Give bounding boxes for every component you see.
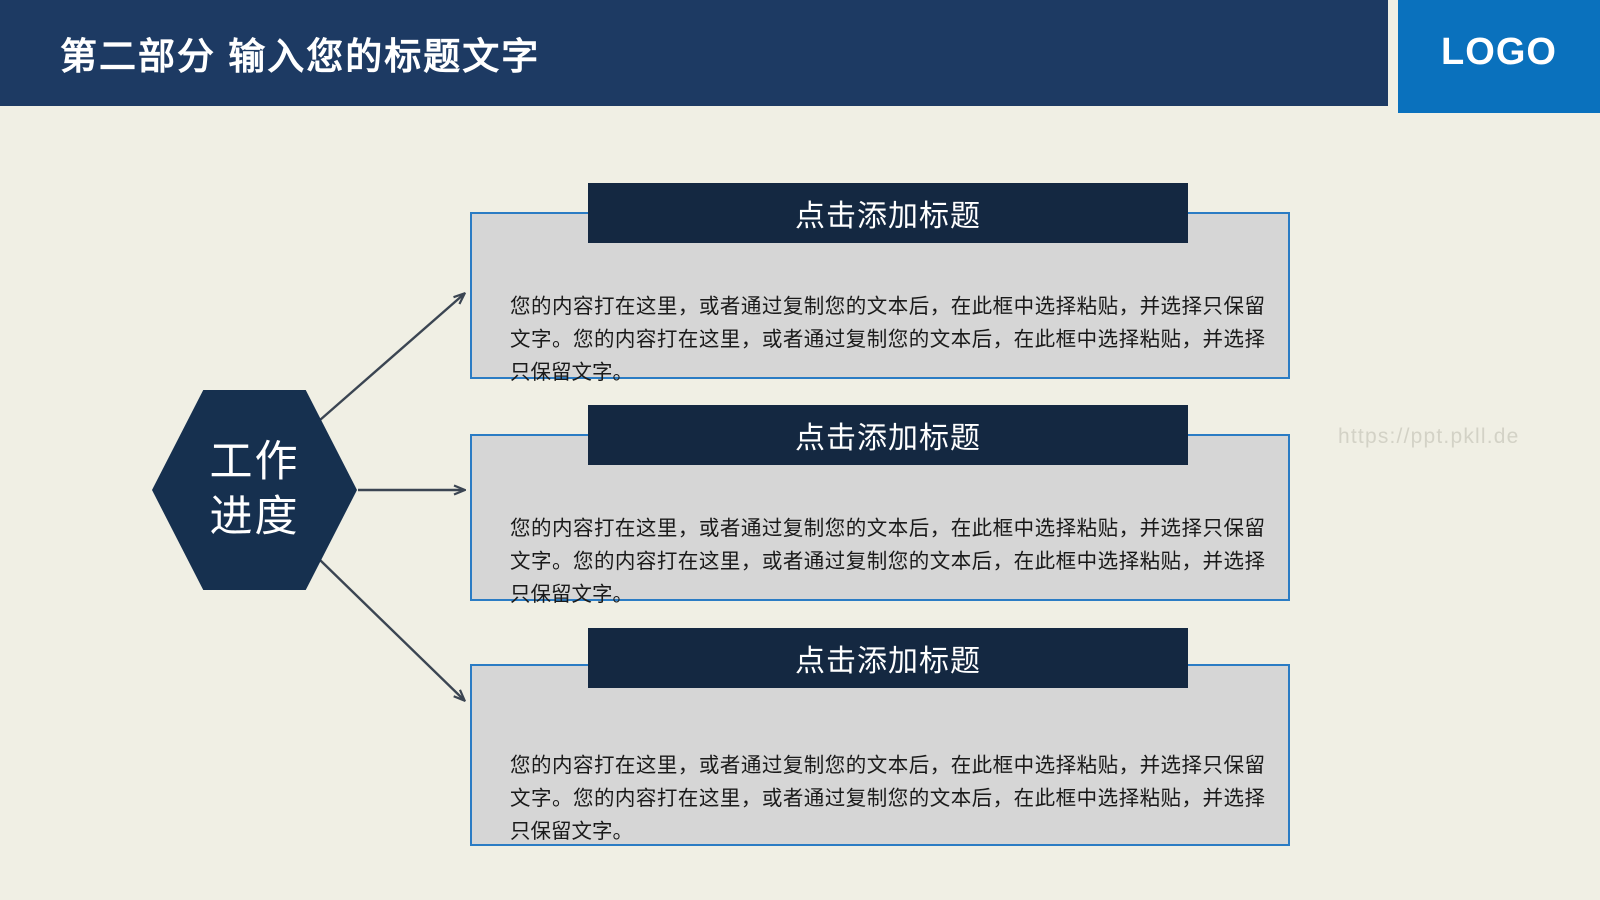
logo-label: LOGO [1398,0,1600,113]
slide-canvas: 第二部分 输入您的标题文字 LOGO 工作 进度 您的内容打在这里，或者通过复制… [0,0,1600,900]
card-3-title[interactable]: 点击添加标题 [588,628,1188,688]
page-title: 第二部分 输入您的标题文字 [60,26,540,80]
card-3-text: 您的内容打在这里，或者通过复制您的文本后，在此框中选择粘贴，并选择只保留文字。您… [510,749,1265,849]
hub-label-line-1: 工作 [210,435,300,490]
hub-hexagon[interactable]: 工作 进度 [152,390,357,590]
card-3-body: 您的内容打在这里，或者通过复制您的文本后，在此框中选择粘贴，并选择只保留文字。您… [470,664,1290,846]
header-bar: 第二部分 输入您的标题文字 [0,0,1388,106]
hub-label-line-2: 进度 [210,490,300,545]
card-2-text: 您的内容打在这里，或者通过复制您的文本后，在此框中选择粘贴，并选择只保留文字。您… [510,512,1265,612]
card-1-title[interactable]: 点击添加标题 [588,183,1188,243]
card-1-text: 您的内容打在这里，或者通过复制您的文本后，在此框中选择粘贴，并选择只保留文字。您… [510,290,1265,390]
watermark-url: https://ppt.pkll.de [1338,425,1520,449]
card-2-title[interactable]: 点击添加标题 [588,405,1188,465]
logo-panel[interactable]: LOGO [1398,0,1600,113]
hub-label: 工作 进度 [152,390,357,590]
